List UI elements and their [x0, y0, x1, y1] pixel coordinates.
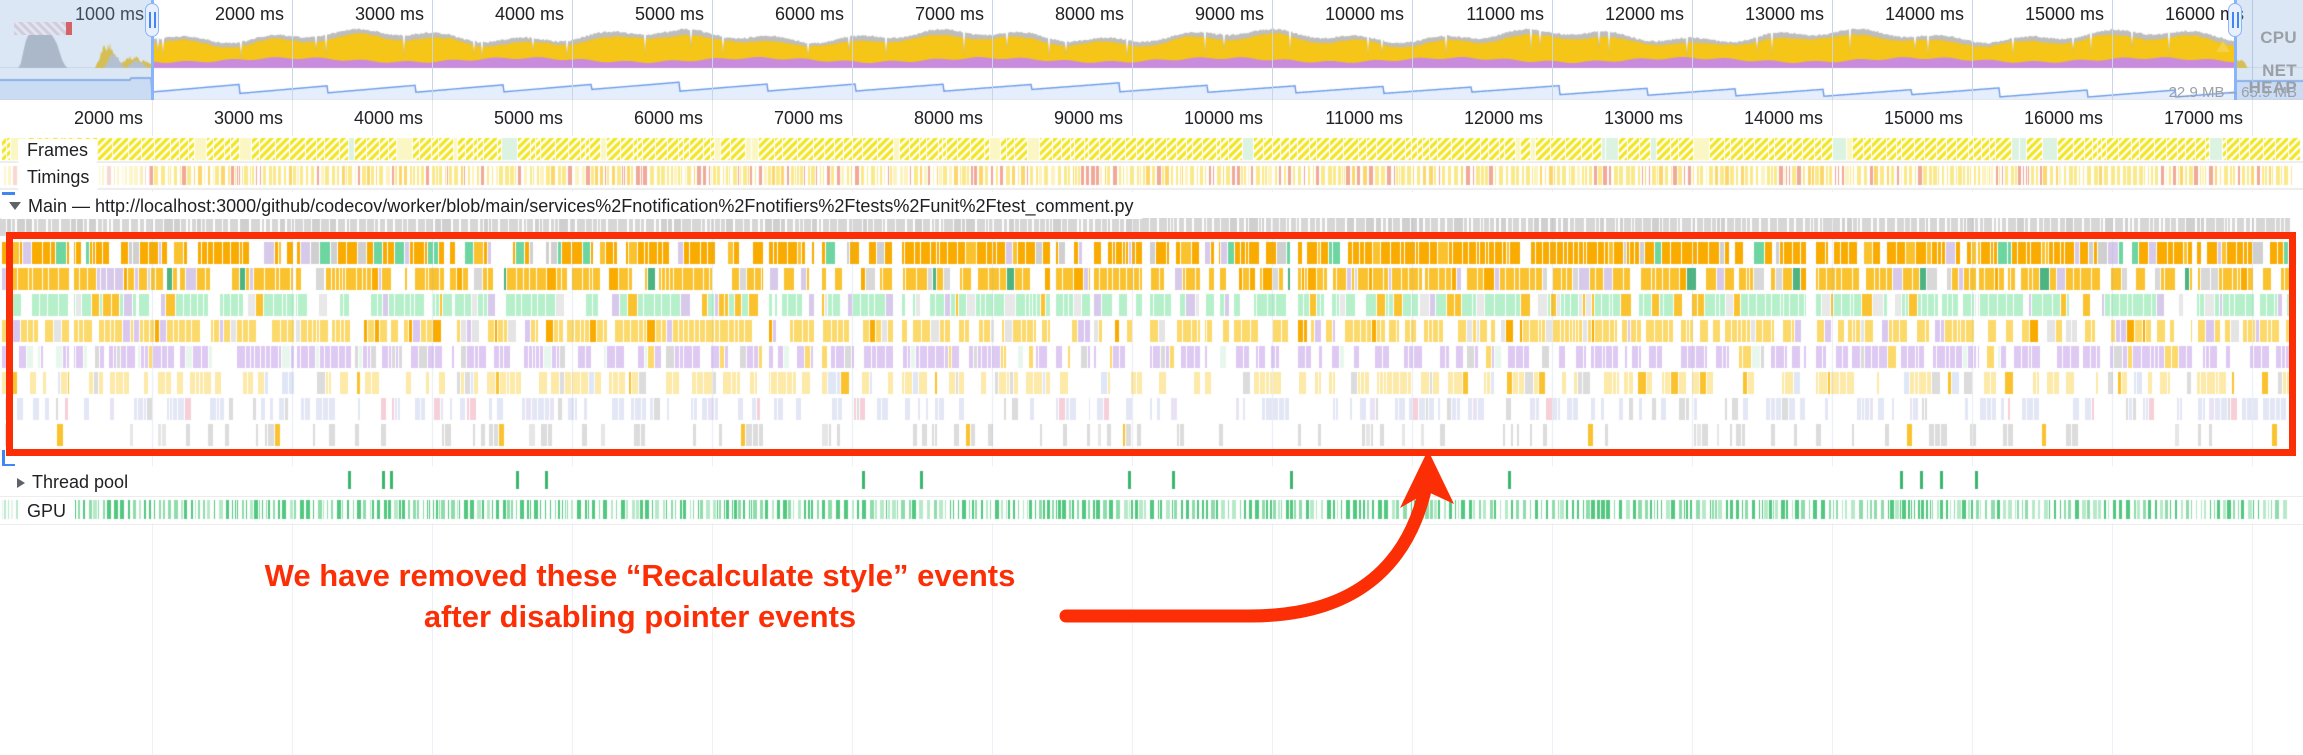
overview-tick-label: 2000 ms: [215, 4, 292, 25]
overview-tick: [1272, 0, 1273, 100]
ruler-tick: [1272, 100, 1273, 136]
overview-tick-label: 9000 ms: [1195, 4, 1272, 25]
overview-tick-label: 6000 ms: [775, 4, 852, 25]
heap-range-label: 22.9 MB – 65.9 MB: [2169, 84, 2297, 100]
ruler-tick-label: 9000 ms: [1054, 108, 1132, 129]
overview-tick-label: 14000 ms: [1885, 4, 1972, 25]
ruler-tick-label: 3000 ms: [214, 108, 292, 129]
ruler-tick: [2112, 100, 2113, 136]
ruler-tick-label: 5000 ms: [494, 108, 572, 129]
ruler-tick: [292, 100, 293, 136]
overview-tick: [1972, 0, 1973, 100]
cpu-label: CPU: [2260, 28, 2297, 48]
ruler-tick: [1132, 100, 1133, 136]
overview-tick: [1552, 0, 1553, 100]
chevron-right-icon[interactable]: [17, 478, 25, 488]
timeline-ruler[interactable]: 2000 ms3000 ms4000 ms5000 ms6000 ms7000 …: [0, 100, 2303, 137]
flame-chart-canvas[interactable]: [0, 218, 2303, 456]
annotation-text: We have removed these “Recalculate style…: [250, 556, 1030, 638]
main-group-bracket-bottom: [2, 450, 15, 467]
overview-tick-label: 5000 ms: [635, 4, 712, 25]
ruler-tick: [152, 100, 153, 136]
frames-canvas[interactable]: [0, 136, 2303, 162]
overview-tick: [992, 0, 993, 100]
overview-tick: [2112, 0, 2113, 100]
overview-tick: [852, 0, 853, 100]
annotation-arrow-icon: [1040, 430, 1520, 690]
ruler-tick-label: 15000 ms: [1884, 108, 1972, 129]
ruler-tick: [992, 100, 993, 136]
overview-tick-label: 1000 ms: [75, 4, 152, 25]
ruler-tick-label: 11000 ms: [1325, 108, 1412, 129]
ruler-tick-label: 4000 ms: [354, 108, 432, 129]
overview-tick-label: 3000 ms: [355, 4, 432, 25]
long-task-marker: [14, 22, 72, 35]
main-track-header[interactable]: Main — http://localhost:3000/github/code…: [0, 192, 2303, 218]
overview-tick: [1412, 0, 1413, 100]
frames-track-label[interactable]: Frames: [18, 139, 97, 163]
thread-pool-track-label[interactable]: Thread pool: [8, 471, 137, 495]
main-track-label-text: Main — http://localhost:3000/github/code…: [28, 196, 1134, 216]
overview-tick-label: 13000 ms: [1745, 4, 1832, 25]
overview-selection-handle-left[interactable]: [145, 3, 159, 37]
overview-tick-label: 4000 ms: [495, 4, 572, 25]
overview-tick: [1832, 0, 1833, 100]
overview-tick-label: 10000 ms: [1325, 4, 1412, 25]
ruler-tick: [572, 100, 573, 136]
overview-tick: [432, 0, 433, 100]
overview-tick: [1692, 0, 1693, 100]
ruler-tick: [1552, 100, 1553, 136]
overview-tick: [712, 0, 713, 100]
overview-tick-label: 7000 ms: [915, 4, 992, 25]
ruler-tick: [2252, 100, 2253, 136]
main-track-label[interactable]: Main — http://localhost:3000/github/code…: [0, 195, 1143, 219]
ruler-tick-label: 7000 ms: [774, 108, 852, 129]
timings-track-label[interactable]: Timings: [18, 166, 98, 190]
timings-canvas[interactable]: [0, 163, 2303, 189]
ruler-tick-label: 16000 ms: [2024, 108, 2112, 129]
overview-tick: [292, 0, 293, 100]
ruler-tick: [1412, 100, 1413, 136]
ruler-tick: [1832, 100, 1833, 136]
overview-tick: [572, 0, 573, 100]
ruler-tick-label: 12000 ms: [1464, 108, 1552, 129]
overview-tick-label: 15000 ms: [2025, 4, 2112, 25]
performance-panel: 1000 ms2000 ms3000 ms4000 ms5000 ms6000 …: [0, 0, 2303, 755]
overview-tick: [1132, 0, 1133, 100]
overview-tick-label: 11000 ms: [1466, 4, 1552, 25]
frames-track[interactable]: [0, 136, 2303, 162]
ruler-tick-label: 17000 ms: [2164, 108, 2252, 129]
ruler-tick-label: 8000 ms: [914, 108, 992, 129]
timings-track[interactable]: [0, 163, 2303, 189]
ruler-tick: [1692, 100, 1693, 136]
ruler-tick: [852, 100, 853, 136]
thread-pool-label-text: Thread pool: [32, 472, 128, 492]
gpu-track-label[interactable]: GPU: [18, 500, 75, 524]
chevron-down-icon[interactable]: [9, 202, 21, 210]
overview-selection-handle-right[interactable]: [2228, 3, 2242, 37]
ruler-tick: [1972, 100, 1973, 136]
ruler-tick: [712, 100, 713, 136]
main-flame-chart[interactable]: [0, 218, 2303, 456]
ruler-tick: [432, 100, 433, 136]
ruler-tick-label: 13000 ms: [1604, 108, 1692, 129]
overview-tick-label: 12000 ms: [1605, 4, 1692, 25]
ruler-tick-label: 6000 ms: [634, 108, 712, 129]
timeline-overview[interactable]: 1000 ms2000 ms3000 ms4000 ms5000 ms6000 …: [0, 0, 2303, 100]
ruler-tick-label: 14000 ms: [1744, 108, 1832, 129]
ruler-tick-label: 2000 ms: [74, 108, 152, 129]
ruler-tick-label: 10000 ms: [1184, 108, 1272, 129]
overview-tick-label: 8000 ms: [1055, 4, 1132, 25]
